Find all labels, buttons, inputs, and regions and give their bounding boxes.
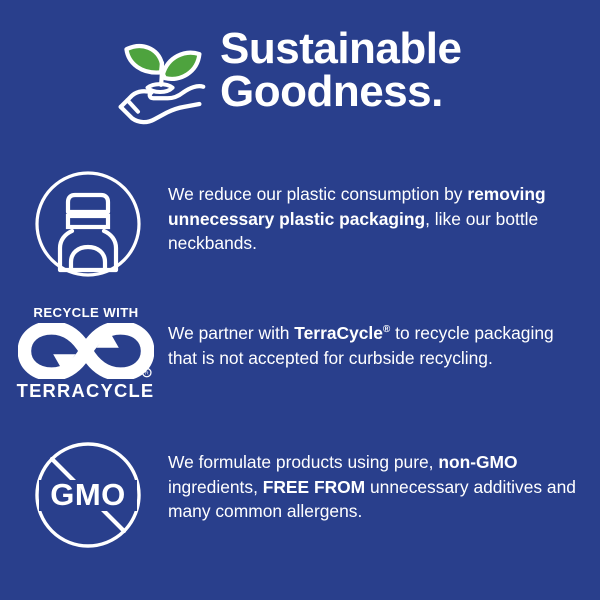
terracycle-logo: RECYCLE WITH R TERRACYCLE bbox=[11, 305, 161, 402]
section-icon-wrap: RECYCLE WITH R TERRACYCLE bbox=[0, 305, 168, 402]
section-text: We partner with TerraCycle® to recycle p… bbox=[168, 305, 600, 370]
header: Sustainable Goodness. bbox=[0, 26, 600, 141]
page-title: Sustainable Goodness. bbox=[220, 26, 461, 113]
text-part-bold: FREE FROM bbox=[263, 477, 365, 497]
section-terracycle: RECYCLE WITH R TERRACYCLE bbox=[0, 305, 600, 425]
text-part: We partner with bbox=[168, 323, 294, 343]
recycle-infinity-icon: R bbox=[18, 323, 154, 379]
text-part: ingredients, bbox=[168, 477, 263, 497]
bottle-neckband-circle-icon bbox=[32, 168, 144, 280]
text-part-bold: TerraCycle bbox=[294, 323, 383, 343]
gmo-label: GMO bbox=[50, 477, 126, 512]
text-part-bold: non-GMO bbox=[438, 452, 517, 472]
hand-holding-seedling-icon bbox=[112, 32, 210, 128]
section-text: We formulate products using pure, non-GM… bbox=[168, 438, 600, 524]
terracycle-bottom-label: TERRACYCLE bbox=[17, 381, 155, 402]
section-icon-wrap: GMO bbox=[0, 438, 168, 552]
section-non-gmo: GMO We formulate products using pure, no… bbox=[0, 438, 600, 573]
terracycle-top-label: RECYCLE WITH bbox=[33, 305, 138, 320]
section-plastic-reduction: We reduce our plastic consumption by rem… bbox=[0, 168, 600, 293]
no-gmo-circle-icon: GMO bbox=[31, 438, 145, 552]
text-part: We reduce our plastic consumption by bbox=[168, 184, 467, 204]
section-text: We reduce our plastic consumption by rem… bbox=[168, 168, 600, 256]
title-line-1: Sustainable bbox=[220, 28, 461, 71]
title-line-2: Goodness. bbox=[220, 71, 461, 114]
section-icon-wrap bbox=[0, 168, 168, 280]
sustainability-infographic: Sustainable Goodness. We reduce our plas… bbox=[0, 0, 600, 600]
svg-text:R: R bbox=[145, 371, 149, 377]
text-part: We formulate products using pure, bbox=[168, 452, 438, 472]
